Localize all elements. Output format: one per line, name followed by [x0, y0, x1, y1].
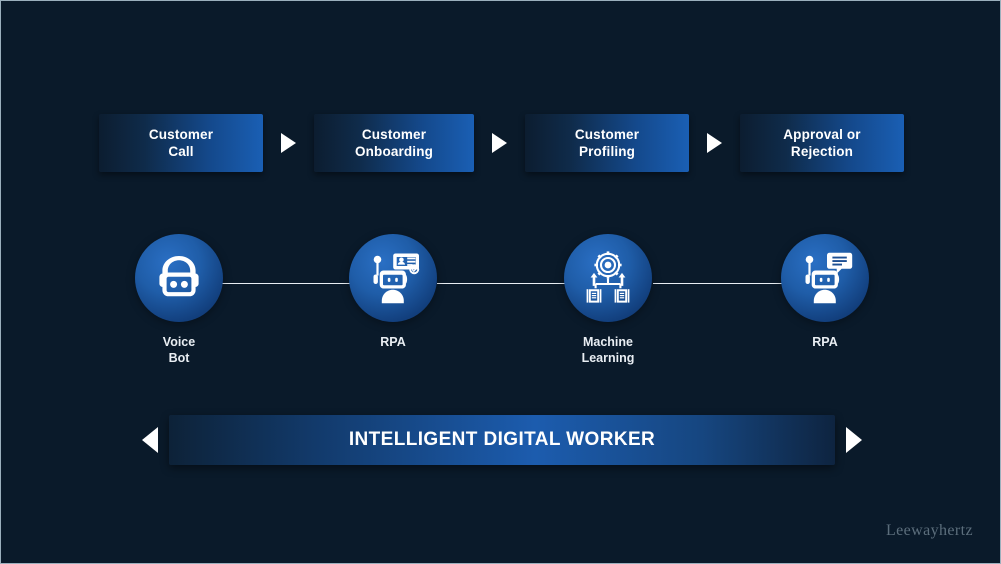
stage-box-customer-call[interactable]: Customer Call: [99, 114, 263, 172]
node-bubble: [349, 234, 437, 322]
node-label-line1: Voice: [119, 335, 239, 351]
stage-box-approval-rejection[interactable]: Approval or Rejection: [740, 114, 904, 172]
triangle-right-icon: [492, 133, 507, 153]
diagram-canvas: Customer Call Customer Onboarding Custom…: [0, 0, 1001, 564]
triangle-left-icon: [142, 427, 158, 453]
node-caption: RPA: [333, 335, 453, 351]
triangle-right-icon: [846, 427, 862, 453]
stage-separator-2: [474, 133, 525, 153]
node-label-line1: RPA: [765, 335, 885, 351]
node-rpa-onboarding[interactable]: RPA: [333, 234, 453, 351]
node-machine-learning[interactable]: Machine Learning: [548, 234, 668, 367]
banner-right-arrow[interactable]: [835, 427, 873, 453]
banner-left-arrow[interactable]: [131, 427, 169, 453]
node-label-line1: RPA: [333, 335, 453, 351]
node-rpa-approval[interactable]: RPA: [765, 234, 885, 351]
stage-label-line1: Customer: [149, 126, 213, 143]
stage-box-customer-profiling[interactable]: Customer Profiling: [525, 114, 689, 172]
node-bubble: [564, 234, 652, 322]
node-caption: RPA: [765, 335, 885, 351]
node-label-line2: Learning: [548, 351, 668, 367]
stage-box-customer-onboarding[interactable]: Customer Onboarding: [314, 114, 474, 172]
node-voice-bot[interactable]: Voice Bot: [119, 234, 239, 367]
banner-title: INTELLIGENT DIGITAL WORKER: [169, 415, 835, 465]
process-stage-row: Customer Call Customer Onboarding Custom…: [99, 114, 904, 172]
stage-label-line2: Call: [149, 143, 213, 160]
stage-label-line2: Rejection: [783, 143, 860, 160]
stage-label-line1: Customer: [575, 126, 639, 143]
intelligent-digital-worker-banner-row: INTELLIGENT DIGITAL WORKER: [131, 415, 873, 465]
node-caption: Machine Learning: [548, 335, 668, 367]
triangle-right-icon: [281, 133, 296, 153]
robot-speech-bubble-icon: [796, 251, 854, 305]
technology-node-row: Voice Bot: [1, 234, 1001, 379]
gear-data-nodes-icon: [579, 250, 637, 306]
stage-label-line2: Profiling: [575, 143, 639, 160]
node-bubble: [781, 234, 869, 322]
stage-label-line1: Approval or: [783, 126, 860, 143]
stage-separator-1: [263, 133, 314, 153]
node-caption: Voice Bot: [119, 335, 239, 367]
watermark-logo: Leewayhertz: [886, 522, 973, 540]
node-bubble: [135, 234, 223, 322]
robot-id-card-check-icon: [364, 251, 422, 305]
node-label-line2: Bot: [119, 351, 239, 367]
robot-headphones-icon: [151, 253, 207, 303]
triangle-right-icon: [707, 133, 722, 153]
stage-label-line2: Onboarding: [355, 143, 433, 160]
stage-label-line1: Customer: [355, 126, 433, 143]
stage-separator-3: [689, 133, 740, 153]
node-label-line1: Machine: [548, 335, 668, 351]
